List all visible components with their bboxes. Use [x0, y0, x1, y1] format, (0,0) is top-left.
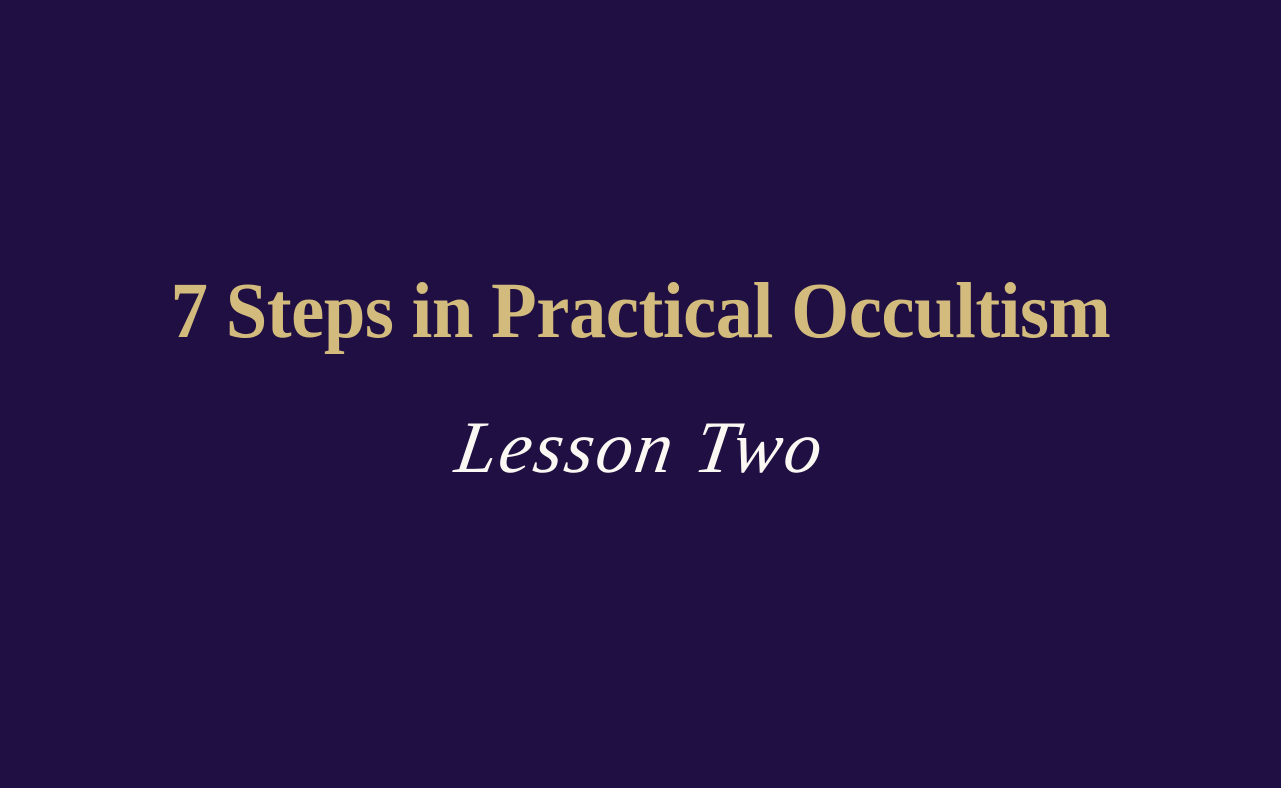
title-slide: 7 Steps in Practical Occultism Lesson Tw…: [0, 0, 1281, 788]
slide-subtitle: Lesson Two: [0, 398, 1281, 498]
slide-title: 7 Steps in Practical Occultism: [35, 268, 1246, 356]
slide-text-block: 7 Steps in Practical Occultism Lesson Tw…: [0, 0, 1281, 788]
